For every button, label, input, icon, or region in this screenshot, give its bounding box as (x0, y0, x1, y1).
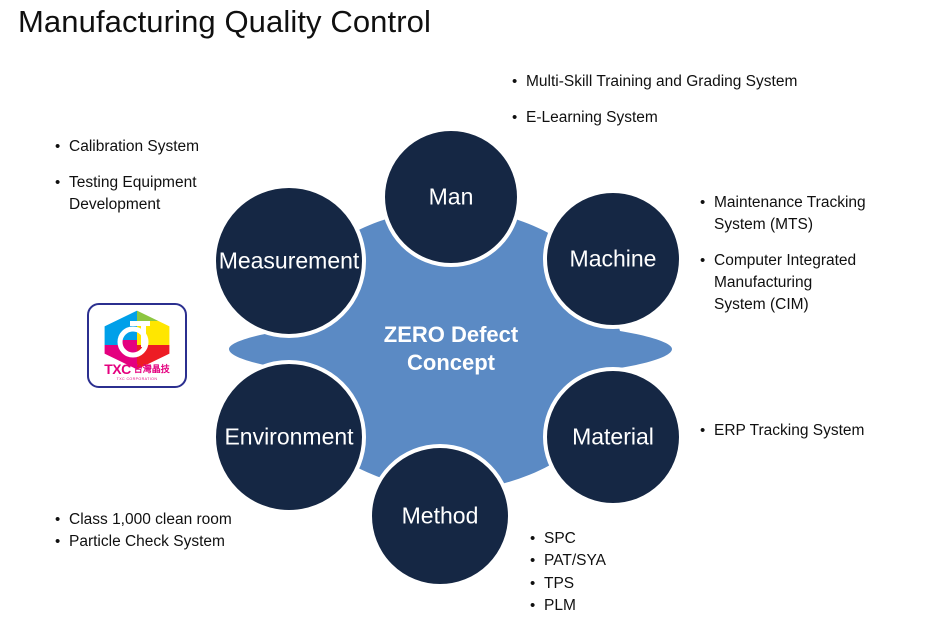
node-circle-machine[interactable] (545, 191, 681, 327)
center-label: ZERO Defect Concept (321, 321, 581, 377)
bullet-icon: • (530, 528, 544, 550)
bullet-text: Maintenance Tracking System (MTS) (714, 192, 874, 236)
txc-logo: TXC台灣晶技 TXC CORPORATION (87, 303, 187, 388)
list-item: • ERP Tracking System (700, 420, 925, 442)
list-item: • Maintenance Tracking System (MTS) (700, 192, 925, 236)
center-label-line2: Concept (321, 349, 581, 377)
spacer (512, 93, 872, 107)
annotations-measurement: • Calibration System • Testing Equipment… (55, 136, 325, 216)
bullet-icon: • (55, 531, 69, 553)
bullet-text: Multi-Skill Training and Grading System (526, 71, 826, 93)
list-item: • Particle Check System (55, 531, 345, 553)
node-circle-man[interactable] (383, 129, 519, 265)
bullet-icon: • (530, 595, 544, 617)
list-item: • E-Learning System (512, 107, 872, 129)
bullet-text: PAT/SYA (544, 550, 606, 572)
list-item: • PLM (530, 595, 730, 617)
list-item: • Computer Integrated Manufacturing Syst… (700, 250, 925, 316)
txc-word: TXC (104, 361, 131, 377)
list-item: • Class 1,000 clean room (55, 509, 345, 531)
bullet-icon: • (55, 136, 69, 157)
bullet-icon: • (530, 550, 544, 572)
bullet-text: ERP Tracking System (714, 420, 864, 442)
bullet-text: TPS (544, 573, 574, 595)
bullet-text: Particle Check System (69, 531, 225, 553)
node-circle-material[interactable] (545, 369, 681, 505)
bullet-icon: • (512, 71, 526, 92)
bullet-text: E-Learning System (526, 107, 658, 129)
spacer (55, 158, 325, 172)
bullet-icon: • (55, 509, 69, 531)
txc-sub-text: TXC CORPORATION (89, 378, 185, 382)
node-circle-method[interactable] (370, 446, 510, 586)
bullet-icon: • (530, 573, 544, 595)
bullet-text: Computer Integrated Manufacturing System… (714, 250, 864, 316)
bullet-icon: • (700, 250, 714, 271)
bullet-icon: • (512, 107, 526, 128)
list-item: • SPC (530, 528, 730, 550)
spacer (700, 236, 925, 250)
bullet-text: SPC (544, 528, 576, 550)
bullet-text: Testing Equipment Development (69, 172, 244, 216)
list-item: • Testing Equipment Development (55, 172, 325, 216)
annotations-man: • Multi-Skill Training and Grading Syste… (512, 71, 872, 129)
annotations-environment: • Class 1,000 clean room • Particle Chec… (55, 509, 345, 554)
list-item: • TPS (530, 573, 730, 595)
list-item: • Multi-Skill Training and Grading Syste… (512, 71, 872, 93)
txc-wordmark: TXC台灣晶技 TXC CORPORATION (89, 361, 185, 382)
annotations-method: • SPC • PAT/SYA • TPS • PLM (530, 528, 730, 618)
list-item: • PAT/SYA (530, 550, 730, 572)
bullet-text: Calibration System (69, 136, 199, 158)
annotations-material: • ERP Tracking System (700, 420, 925, 442)
annotations-machine: • Maintenance Tracking System (MTS) • Co… (700, 192, 925, 316)
bullet-icon: • (700, 420, 714, 441)
list-item: • Calibration System (55, 136, 325, 158)
bullet-icon: • (700, 192, 714, 213)
node-circle-environment[interactable] (214, 362, 364, 512)
center-label-line1: ZERO Defect (321, 321, 581, 349)
txc-chinese-name: 台灣晶技 (134, 364, 170, 374)
bullet-text: PLM (544, 595, 576, 617)
bullet-icon: • (55, 172, 69, 193)
bullet-text: Class 1,000 clean room (69, 509, 232, 531)
